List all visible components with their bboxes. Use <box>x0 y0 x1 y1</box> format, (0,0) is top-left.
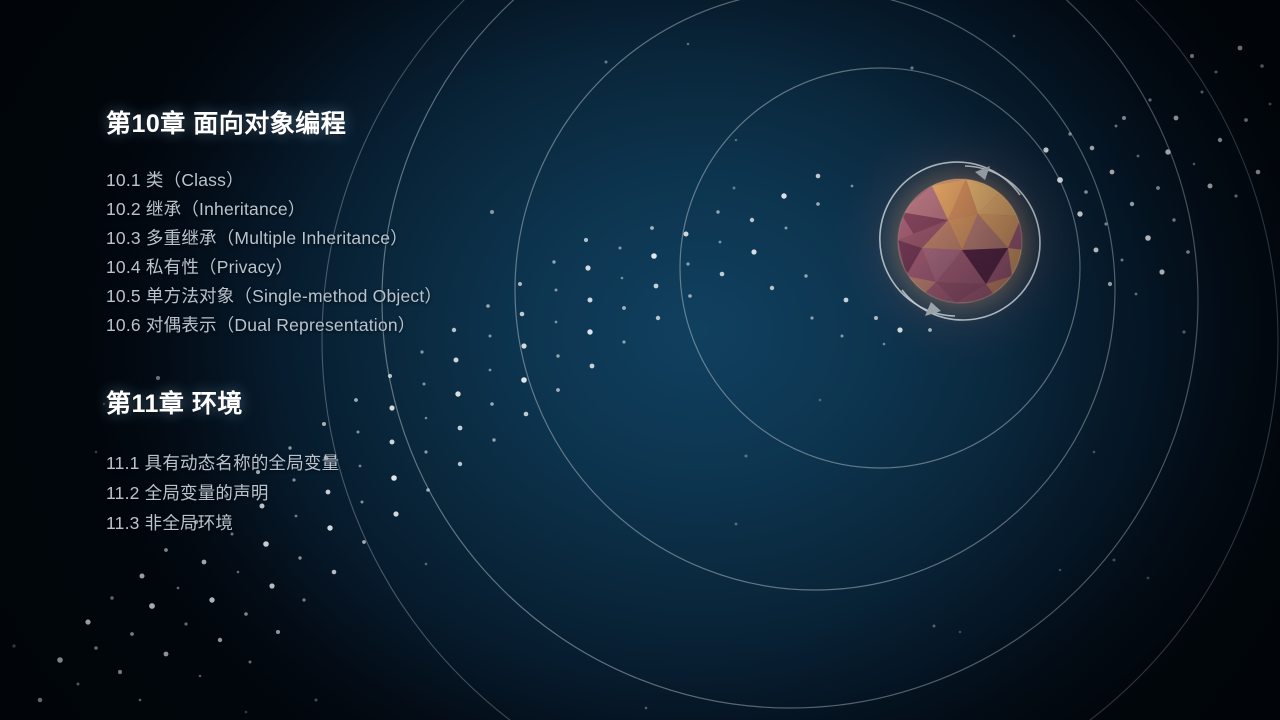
toc-item-10-2[interactable]: 10.2 继承（Inheritance） <box>106 195 726 224</box>
toc-item-10-3[interactable]: 10.3 多重继承（Multiple Inheritance） <box>106 224 726 253</box>
chapter-11-toc: 11.1 具有动态名称的全局变量 11.2 全局变量的声明 11.3 非全局环境 <box>106 448 726 538</box>
toc-item-10-1[interactable]: 10.1 类（Class） <box>106 166 726 195</box>
chapter-10-toc: 10.1 类（Class） 10.2 继承（Inheritance） 10.3 … <box>106 166 726 340</box>
chapter-section-10: 第10章 面向对象编程 10.1 类（Class） 10.2 继承（Inheri… <box>106 104 726 340</box>
chapter-11-title: 第11章 环境 <box>106 384 726 420</box>
toc-item-11-1[interactable]: 11.1 具有动态名称的全局变量 <box>106 448 726 478</box>
toc-item-10-5[interactable]: 10.5 单方法对象（Single-method Object） <box>106 282 726 311</box>
toc-item-10-6[interactable]: 10.6 对偶表示（Dual Representation） <box>106 311 726 340</box>
toc-item-11-3[interactable]: 11.3 非全局环境 <box>106 508 726 538</box>
toc-item-11-2[interactable]: 11.2 全局变量的声明 <box>106 478 726 508</box>
chapter-10-title: 第10章 面向对象编程 <box>106 104 726 140</box>
chapter-section-11: 第11章 环境 11.1 具有动态名称的全局变量 11.2 全局变量的声明 11… <box>106 384 726 538</box>
slide-content: 第10章 面向对象编程 10.1 类（Class） 10.2 继承（Inheri… <box>106 104 726 538</box>
toc-item-10-4[interactable]: 10.4 私有性（Privacy） <box>106 253 726 282</box>
section-spacer <box>106 340 726 384</box>
slide-canvas: 第10章 面向对象编程 10.1 类（Class） 10.2 继承（Inheri… <box>0 0 1280 720</box>
